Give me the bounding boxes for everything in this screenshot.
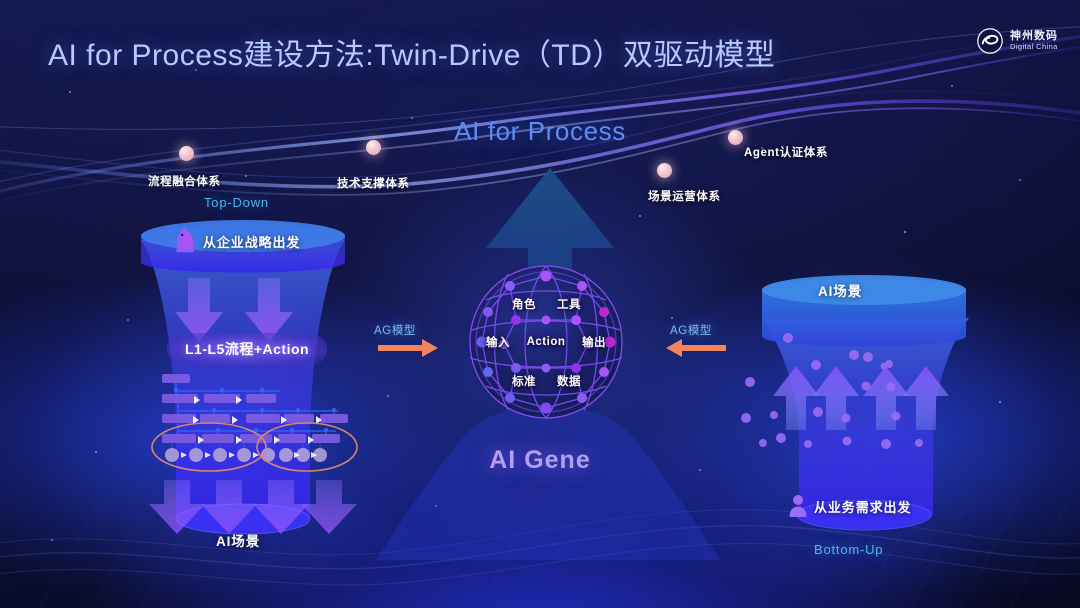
sphere-node-tool: 工具 bbox=[557, 296, 581, 312]
right-funnel-bottom-caption: 从业务需求出发 bbox=[814, 497, 911, 516]
logo-en-label: Digital China bbox=[1010, 43, 1058, 51]
ag-model-label-right: AG模型 bbox=[670, 322, 712, 338]
left-funnel-lower-arrows bbox=[149, 480, 357, 534]
sphere-node-data: 数据 bbox=[557, 373, 581, 389]
ai-gene-title: AI Gene bbox=[0, 446, 1080, 475]
background-art bbox=[0, 0, 1080, 608]
right-funnel-up-arrows bbox=[773, 366, 949, 430]
sphere-node-role: 角色 bbox=[512, 296, 536, 312]
left-funnel-shape bbox=[141, 220, 345, 534]
right-funnel-top-label: AI场景 bbox=[818, 280, 862, 300]
curve-node-label-3: Agent认证体系 bbox=[744, 144, 828, 160]
sphere-node-action: Action bbox=[527, 336, 566, 348]
left-funnel-mode-label: Top-Down bbox=[204, 195, 269, 210]
sphere-node-input: 输入 bbox=[486, 334, 510, 350]
left-funnel-bottom-label: AI场景 bbox=[216, 530, 260, 550]
curve-node-label-0: 流程融合体系 bbox=[148, 173, 221, 189]
curve-node-dot-3 bbox=[728, 130, 743, 145]
center-heading: AI for Process bbox=[0, 116, 1080, 147]
sphere-node-output: 输出 bbox=[582, 334, 606, 350]
ag-arrow-right bbox=[378, 339, 438, 357]
right-funnel-shape bbox=[762, 275, 969, 530]
sphere-node-standard: 标准 bbox=[512, 373, 536, 389]
curve-node-label-1: 技术支撑体系 bbox=[337, 175, 410, 191]
right-funnel-mode-label: Bottom-Up bbox=[814, 542, 883, 557]
ag-model-label-left: AG模型 bbox=[374, 322, 416, 338]
curve-node-dot-1 bbox=[366, 140, 381, 155]
brand-logo: 神州数码 Digital China bbox=[977, 28, 1058, 54]
left-funnel-pill: L1-L5流程+Action bbox=[167, 333, 327, 365]
center-up-arrow bbox=[486, 168, 614, 400]
curve-node-label-2: 场景运营体系 bbox=[648, 188, 721, 204]
curve-node-dot-2 bbox=[657, 163, 672, 178]
person-icon bbox=[788, 494, 808, 518]
galaxy-spiral-icon bbox=[977, 28, 1003, 54]
chess-knight-icon bbox=[174, 226, 196, 254]
rising-dots bbox=[741, 333, 923, 449]
ag-arrow-left bbox=[666, 339, 726, 357]
curve-node-dot-0 bbox=[179, 146, 194, 161]
page-title: AI for Process建设方法:Twin-Drive（TD）双驱动模型 bbox=[48, 30, 775, 74]
left-funnel-top-caption: 从企业战略出发 bbox=[203, 232, 300, 251]
